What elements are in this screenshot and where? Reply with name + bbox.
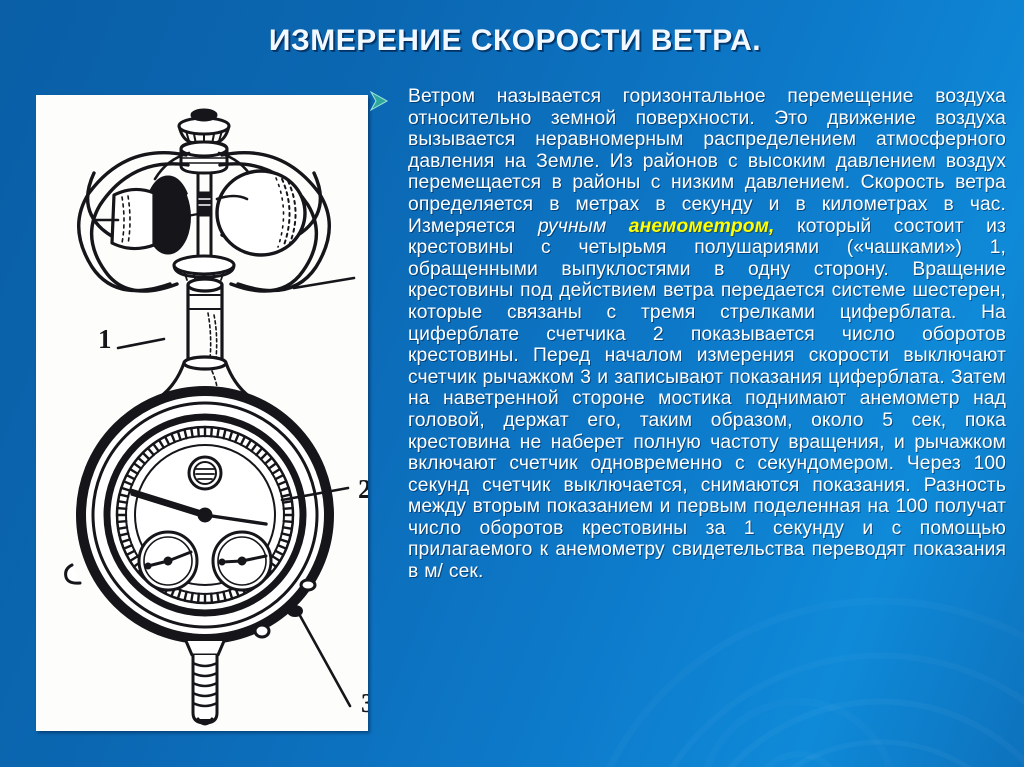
subdial-right	[213, 532, 271, 590]
slide-canvas: ИЗМЕРЕНИЕ СКОРОСТИ ВЕТРА.	[0, 0, 1024, 767]
upper-hub	[181, 142, 227, 173]
cup-hemisphere-right	[217, 171, 305, 255]
figure-callout-1-1: 1	[98, 324, 112, 354]
text-run-italic: ручным	[538, 216, 629, 237]
figure-callout-3-3: 3	[361, 688, 368, 718]
text-run-normal: который состоит из крестовины с четырьмя…	[408, 216, 1006, 583]
body-paragraph: Ветром называется горизонтальное перемещ…	[408, 86, 1006, 583]
figure-panel: 1123	[36, 95, 368, 731]
triangle-arrow-bullet-icon	[368, 90, 390, 112]
handle-column	[188, 279, 222, 363]
counter-dial	[66, 391, 329, 639]
bullet-row: Ветром называется горизонтальное перемещ…	[366, 86, 1006, 583]
mount-screw	[186, 641, 224, 724]
subdial-left	[139, 532, 197, 590]
page-title: ИЗМЕРЕНИЕ СКОРОСТИ ВЕТРА.	[120, 24, 910, 58]
dial-top-window	[189, 457, 221, 489]
text-run-normal: Ветром называется горизонтальное перемещ…	[408, 86, 1006, 237]
content-body: Ветром называется горизонтальное перемещ…	[366, 86, 1006, 583]
text-run-highlight: анемометром,	[629, 216, 775, 237]
anemometer-illustration: 1123	[36, 95, 368, 731]
